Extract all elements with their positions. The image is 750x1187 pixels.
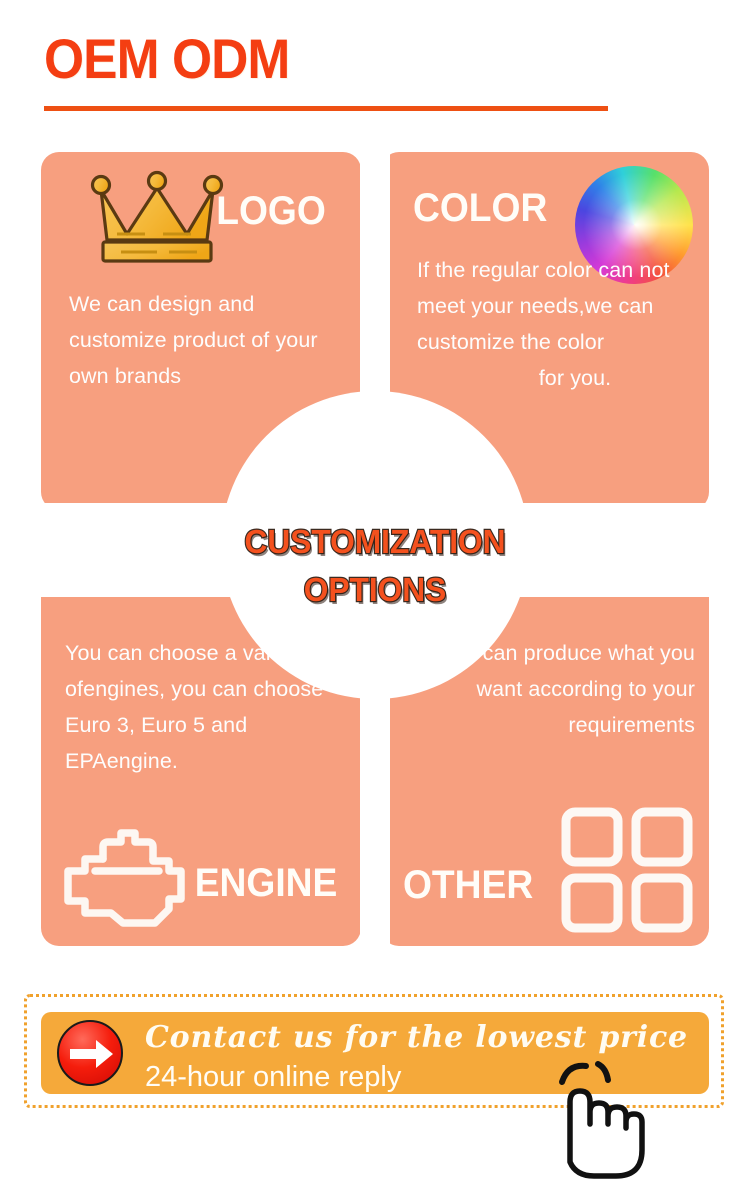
card-logo-description: We can design and customize product of y… [69,286,337,394]
cta-headline: Contact us for the lowest price [145,1016,701,1059]
card-color-badge: COLOR [413,188,547,228]
center-hub-label-line2: OPTIONS [212,566,538,614]
header: OEM ODM [44,30,706,111]
card-other-badge: OTHER [403,865,533,905]
title-underline-divider [44,106,608,111]
center-hub-label-line1: CUSTOMIZATION [212,518,538,566]
center-hub-label: CUSTOMIZATION OPTIONS [212,518,538,614]
pointing-hand-cursor-icon [546,1058,656,1184]
page-title: OEM ODM [44,30,653,88]
card-color-description: If the regular color can not meet your n… [417,252,687,396]
card-logo-badge: LOGO [216,191,326,231]
infographic-page: OEM ODM [0,0,750,1187]
engine-check-light-icon [55,821,205,931]
card-engine-badge: ENGINE [194,863,337,903]
crown-icon [87,164,227,264]
arrow-right-icon[interactable] [57,1020,123,1086]
card-color-description-main: If the regular color can not meet your n… [417,258,670,354]
grid-four-squares-icon [559,805,695,935]
card-color-description-lastline: for you. [417,360,687,396]
